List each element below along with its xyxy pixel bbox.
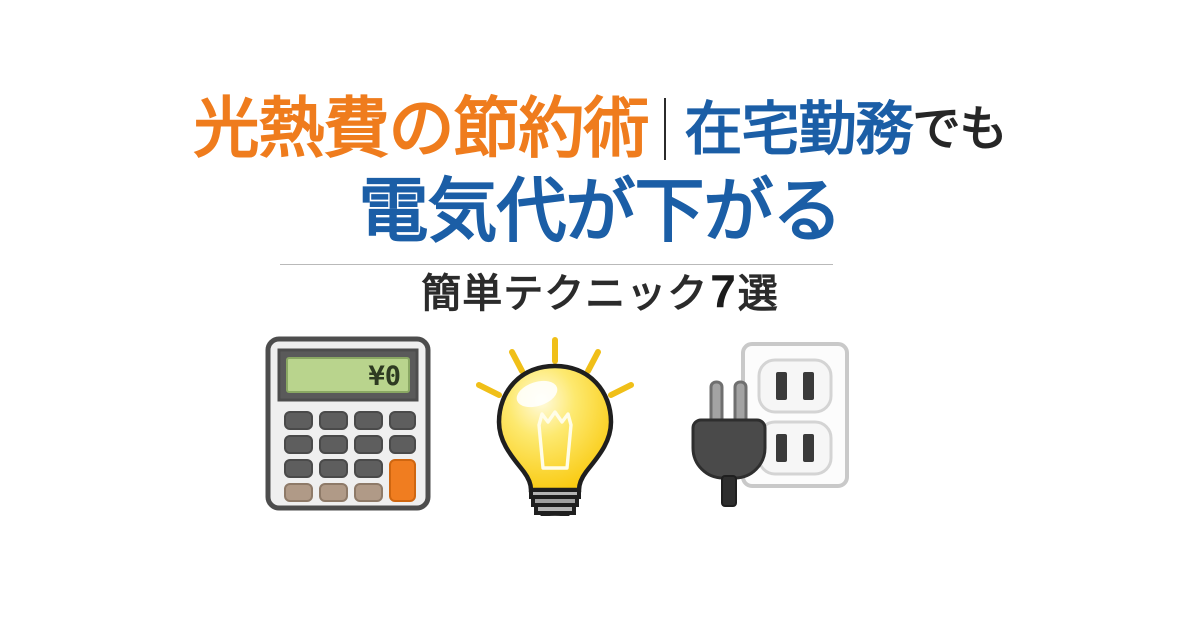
headline-line-2: 電気代が下がる xyxy=(0,176,1200,246)
subtitle-prefix: 簡単テクニック xyxy=(421,271,708,317)
headline-block: 光熱費の節約術 在宅勤務 でも 電気代が下がる xyxy=(0,96,1200,246)
subtitle-block: 簡単テクニック7選 xyxy=(0,268,1200,314)
plug-prongs xyxy=(711,382,746,424)
headline-vertical-divider xyxy=(664,98,666,160)
headline-suffix-text: でも xyxy=(913,105,1007,153)
headline-orange-text: 光熱費の節約術 xyxy=(193,96,648,162)
subtitle-suffix: 選 xyxy=(738,271,779,317)
calculator-icon: ¥0 xyxy=(265,336,431,511)
headline-blue-text: 在宅勤務 xyxy=(684,100,912,158)
subtitle-number: 7 xyxy=(708,265,738,317)
headline-line-1: 光熱費の節約術 在宅勤務 でも xyxy=(0,96,1200,162)
electric-plug-icon xyxy=(685,336,850,511)
subtitle-divider-rule xyxy=(280,264,833,265)
light-bulb-icon xyxy=(465,336,645,516)
headline-main-text: 電気代が下がる xyxy=(359,170,842,252)
poster-canvas: 光熱費の節約術 在宅勤務 でも 電気代が下がる 簡単テクニック7選 ¥0 xyxy=(0,0,1200,630)
svg-text:¥0: ¥0 xyxy=(368,361,401,392)
icon-row: ¥0 xyxy=(0,336,1200,516)
